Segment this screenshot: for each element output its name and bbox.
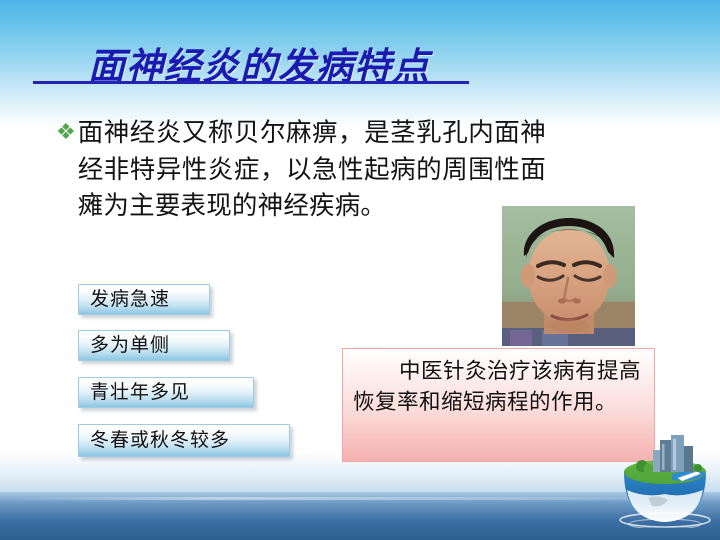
body-bullet-row: ❖ 面神经炎又称贝尔麻痹，是茎乳孔内面神经非特异性炎症，以急性起病的周围性面瘫为…: [56, 115, 546, 225]
body-paragraph-text: 面神经炎又称贝尔麻痹，是茎乳孔内面神经非特异性炎症，以急性起病的周围性面瘫为主要…: [78, 115, 546, 225]
feature-pill-label: 发病急速: [90, 290, 170, 309]
slide-canvas: 面神经炎的发病特点 ❖ 面神经炎又称贝尔麻痹，是茎乳孔内面神经非特异性炎症，以急…: [0, 0, 720, 540]
island-globe-ornament-icon: [612, 432, 718, 528]
feature-pill-season[interactable]: 冬春或秋冬较多: [78, 424, 290, 457]
feature-pill-unilateral[interactable]: 多为单侧: [78, 330, 230, 361]
treatment-note-text: 中医针灸治疗该病有提高恢复率和缩短病程的作用。: [353, 356, 644, 418]
body-paragraph-block: ❖ 面神经炎又称贝尔麻痹，是茎乳孔内面神经非特异性炎症，以急性起病的周围性面瘫为…: [56, 115, 546, 225]
feature-pill-label: 青壮年多见: [90, 383, 190, 402]
feature-pill-label: 冬春或秋冬较多: [90, 431, 230, 450]
treatment-note-box: 中医针灸治疗该病有提高恢复率和缩短病程的作用。: [342, 348, 655, 462]
feature-pill-onset[interactable]: 发病急速: [78, 284, 210, 315]
feature-pill-age-group[interactable]: 青壮年多见: [78, 377, 254, 408]
title-underline-rule: [33, 81, 469, 84]
diamond-bullet-icon: ❖: [56, 115, 76, 151]
patient-face-photo: [502, 206, 635, 346]
feature-pill-label: 多为单侧: [90, 336, 170, 355]
